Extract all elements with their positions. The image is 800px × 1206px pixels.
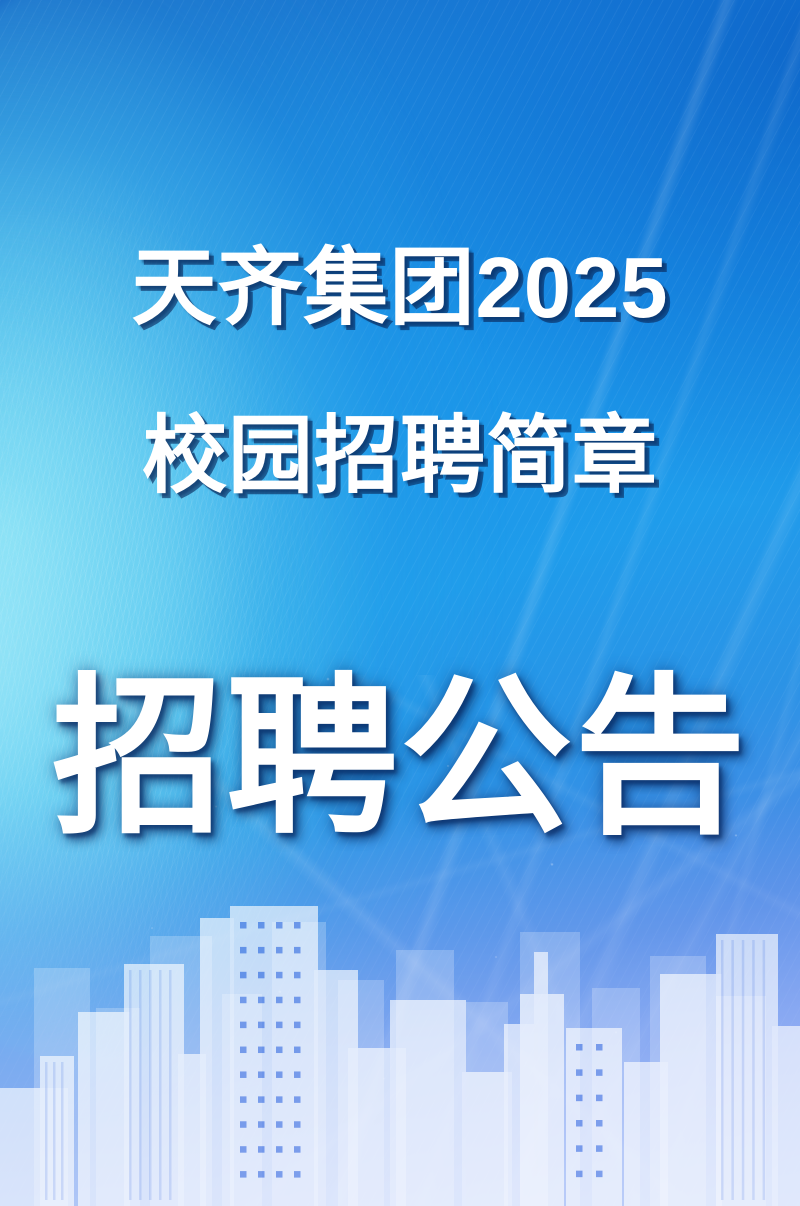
- page-title: 招聘公告: [0, 672, 800, 844]
- subtitle-line-2: 校园招聘简章: [0, 414, 800, 499]
- recruitment-poster: 天齐集团2025 校园招聘简章 招聘公告: [0, 0, 800, 1206]
- poster-text-content: 天齐集团2025 校园招聘简章 招聘公告: [0, 0, 800, 1206]
- subtitle-line-1: 天齐集团2025: [0, 246, 800, 331]
